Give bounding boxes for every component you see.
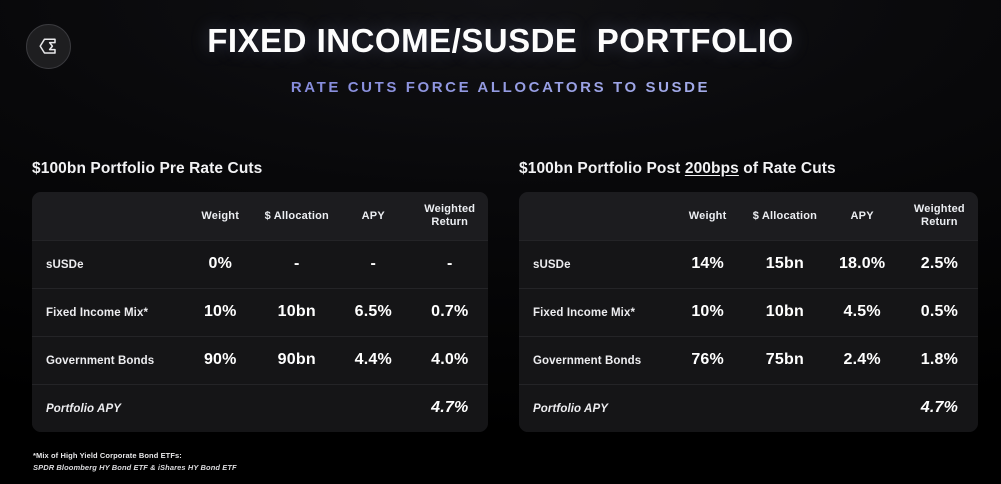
- table-post-rate-cuts: Weight $ Allocation APY Weighted Return …: [519, 192, 978, 432]
- cell-weighted-return: 1.8%: [901, 351, 978, 369]
- slide-subtitle: RATE CUTS FORCE ALLOCATORS TO SUSDE: [0, 79, 1001, 96]
- cell-weight: 10%: [182, 303, 259, 321]
- header-weighted-line2: Return: [431, 216, 468, 228]
- cell-allocation: 90bn: [259, 351, 336, 369]
- table-pre-rate-cuts: Weight $ Allocation APY Weighted Return …: [32, 192, 488, 432]
- cell-allocation: 10bn: [259, 303, 336, 321]
- table-row: sUSDe 14% 15bn 18.0% 2.5%: [519, 240, 978, 288]
- footer-label: Portfolio APY: [519, 403, 669, 415]
- header-cell-weighted-return: Weighted Return: [901, 203, 978, 228]
- cell-weighted-return: 0.5%: [901, 303, 978, 321]
- footnote: *Mix of High Yield Corporate Bond ETFs: …: [33, 450, 237, 473]
- table-row: Fixed Income Mix* 10% 10bn 6.5% 0.7%: [32, 288, 488, 336]
- cell-weighted-return: -: [412, 255, 489, 273]
- row-label: Fixed Income Mix*: [32, 307, 182, 319]
- header-cell-apy: APY: [335, 210, 412, 223]
- row-label: Government Bonds: [519, 355, 669, 367]
- table-row: sUSDe 0% - - -: [32, 240, 488, 288]
- cell-apy: -: [335, 255, 412, 273]
- row-label: sUSDe: [519, 259, 669, 271]
- table-header-row: Weight $ Allocation APY Weighted Return: [519, 192, 978, 240]
- header-cell-weight: Weight: [669, 210, 746, 223]
- cell-allocation: 15bn: [746, 255, 823, 273]
- footer-cell-weighted-return: 4.7%: [901, 399, 978, 417]
- slide-title: FIXED INCOME/SUSDE PORTFOLIO: [0, 22, 1001, 60]
- cell-apy: 18.0%: [824, 255, 901, 273]
- table-footer-row: Portfolio APY 4.7%: [519, 384, 978, 432]
- header-cell-weight: Weight: [182, 210, 259, 223]
- cell-weighted-return: 2.5%: [901, 255, 978, 273]
- panel-title-post-suffix: of Rate Cuts: [739, 160, 836, 177]
- table-footer-row: Portfolio APY 4.7%: [32, 384, 488, 432]
- cell-weighted-return: 0.7%: [412, 303, 489, 321]
- row-label: Government Bonds: [32, 355, 182, 367]
- slide-root: FIXED INCOME/SUSDE PORTFOLIO RATE CUTS F…: [0, 0, 1001, 484]
- cell-apy: 4.5%: [824, 303, 901, 321]
- cell-weight: 90%: [182, 351, 259, 369]
- row-label: sUSDe: [32, 259, 182, 271]
- table-header-row: Weight $ Allocation APY Weighted Return: [32, 192, 488, 240]
- header-cell-allocation: $ Allocation: [746, 210, 823, 223]
- cell-allocation: 75bn: [746, 351, 823, 369]
- footer-cell-weighted-return: 4.7%: [412, 399, 489, 417]
- table-row: Government Bonds 76% 75bn 2.4% 1.8%: [519, 336, 978, 384]
- footnote-line-2: SPDR Bloomberg HY Bond ETF & iShares HY …: [33, 462, 237, 474]
- panel-pre-rate-cuts: $100bn Portfolio Pre Rate Cuts Weight $ …: [32, 160, 488, 432]
- panel-title-pre-text: $100bn Portfolio Pre Rate Cuts: [32, 160, 262, 177]
- panel-title-post-underlined: 200bps: [685, 160, 739, 177]
- cell-apy: 4.4%: [335, 351, 412, 369]
- header-cell-weighted-return: Weighted Return: [412, 203, 489, 228]
- table-row: Fixed Income Mix* 10% 10bn 4.5% 0.5%: [519, 288, 978, 336]
- cell-apy: 6.5%: [335, 303, 412, 321]
- cell-weight: 76%: [669, 351, 746, 369]
- cell-allocation: -: [259, 255, 336, 273]
- cell-weight: 0%: [182, 255, 259, 273]
- table-row: Government Bonds 90% 90bn 4.4% 4.0%: [32, 336, 488, 384]
- footnote-line-1: *Mix of High Yield Corporate Bond ETFs:: [33, 450, 237, 462]
- header-weighted-line2: Return: [921, 216, 958, 228]
- panel-title-post-prefix: $100bn Portfolio Post: [519, 160, 685, 177]
- row-label: Fixed Income Mix*: [519, 307, 669, 319]
- cell-weight: 10%: [669, 303, 746, 321]
- cell-apy: 2.4%: [824, 351, 901, 369]
- header-cell-allocation: $ Allocation: [259, 210, 336, 223]
- header-cell-apy: APY: [824, 210, 901, 223]
- cell-weighted-return: 4.0%: [412, 351, 489, 369]
- header-weighted-line1: Weighted: [914, 203, 965, 215]
- panel-title-pre: $100bn Portfolio Pre Rate Cuts: [32, 160, 488, 178]
- cell-weight: 14%: [669, 255, 746, 273]
- footer-label: Portfolio APY: [32, 403, 182, 415]
- panel-post-rate-cuts: $100bn Portfolio Post 200bps of Rate Cut…: [519, 160, 978, 432]
- header-weighted-line1: Weighted: [424, 203, 475, 215]
- cell-allocation: 10bn: [746, 303, 823, 321]
- panel-title-post: $100bn Portfolio Post 200bps of Rate Cut…: [519, 160, 978, 178]
